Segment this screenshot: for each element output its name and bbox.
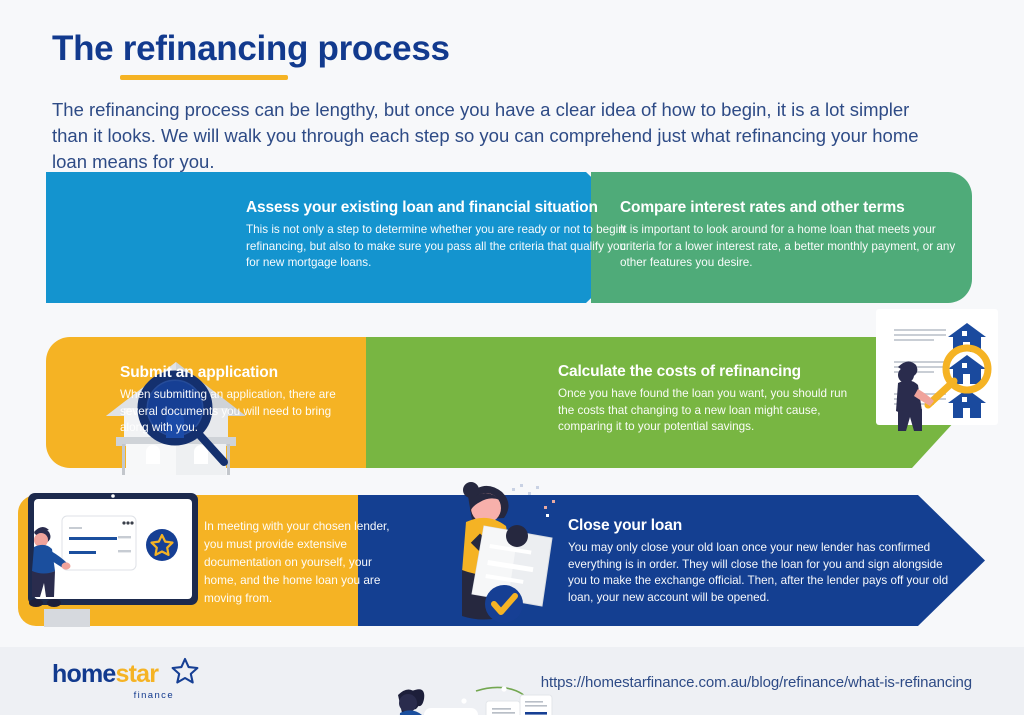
- step-2-text: Compare interest rates and other terms I…: [620, 199, 960, 272]
- step-6-title: Close your loan: [568, 517, 956, 535]
- step-1-title: Assess your existing loan and financial …: [246, 199, 632, 217]
- step-5-text: In meeting with your chosen lender, you …: [204, 518, 400, 608]
- step-1-body: This is not only a step to determine whe…: [246, 222, 632, 272]
- step-3-text: Submit an application When submitting an…: [120, 364, 358, 437]
- dot: [461, 698, 466, 703]
- step-2-body: It is important to look around for a hom…: [620, 222, 960, 272]
- header: The refinancing process The refinancing …: [52, 30, 972, 175]
- infographic-page: The refinancing process The refinancing …: [0, 0, 1024, 715]
- check-badge-icon: [485, 585, 523, 623]
- logo-subtitle: finance: [52, 690, 174, 701]
- hand: [506, 525, 528, 547]
- step-4-body: Once you have found the loan you want, y…: [558, 386, 864, 436]
- homestar-logo[interactable]: homestar finance: [52, 662, 212, 701]
- document-card-back-2: [520, 695, 552, 715]
- page-title: The refinancing process: [52, 30, 972, 69]
- form-window: [62, 516, 136, 570]
- confetti-dots: [512, 484, 555, 517]
- webcam-dot: [111, 494, 115, 498]
- dot: [501, 686, 506, 691]
- step-1-text: Assess your existing loan and financial …: [246, 199, 632, 272]
- step-4-title: Calculate the costs of refinancing: [558, 363, 864, 381]
- star-badge-icon: [146, 529, 178, 561]
- step-3-title: Submit an application: [120, 364, 358, 382]
- step-5-body: In meeting with your chosen lender, you …: [204, 518, 400, 608]
- step-4-text: Calculate the costs of refinancing Once …: [558, 363, 864, 436]
- step-3-body: When submitting an application, there ar…: [120, 387, 358, 437]
- document-card-back-1: [486, 701, 520, 715]
- monitor-stand: [44, 609, 90, 627]
- logo-home-text: home: [52, 660, 115, 688]
- step-6-text: Close your loan You may only close your …: [568, 517, 956, 606]
- star-icon: [170, 656, 200, 691]
- woman-contract-illustration: [424, 478, 584, 628]
- logo-star-text: star: [115, 660, 158, 688]
- person-documents-illustration: [368, 673, 583, 715]
- monitor-form-illustration: [14, 483, 210, 631]
- intro-paragraph: The refinancing process can be lengthy, …: [52, 97, 927, 176]
- source-url[interactable]: https://homestarfinance.com.au/blog/refi…: [541, 674, 972, 691]
- title-underline-rule: [120, 75, 288, 80]
- house-listing-card-illustration: [876, 305, 1024, 432]
- document-card-front: [424, 708, 478, 715]
- step-2-title: Compare interest rates and other terms: [620, 199, 960, 217]
- process-row-1: Assess your existing loan and financial …: [46, 172, 972, 303]
- step-6-body: You may only close your old loan once yo…: [568, 540, 956, 606]
